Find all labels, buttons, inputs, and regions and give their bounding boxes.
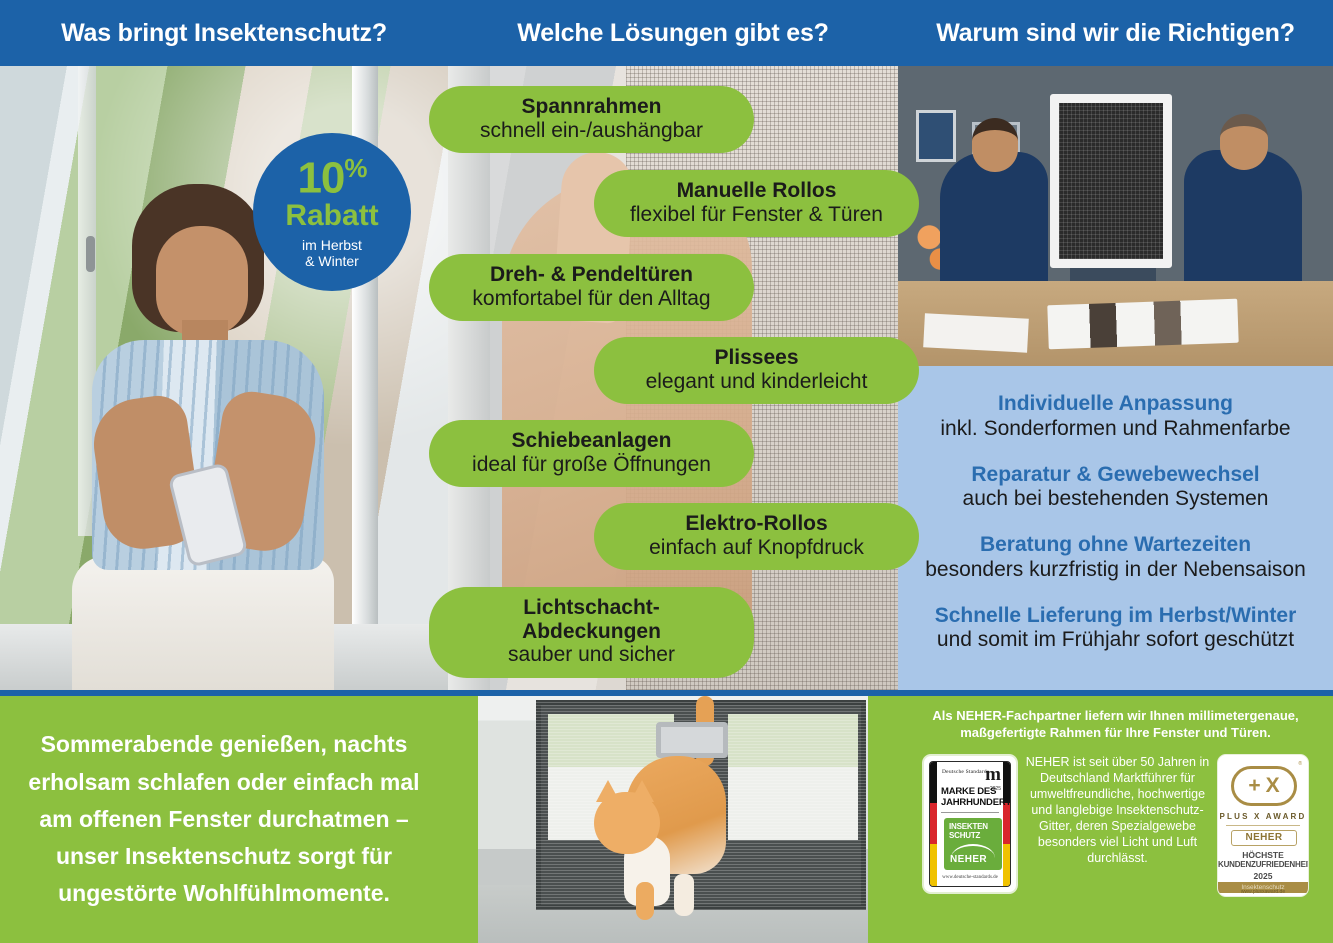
infographic-page: Was bringt Insektenschutz? Welche Lösung… bbox=[0, 0, 1333, 943]
team-member-right-body bbox=[1184, 150, 1302, 284]
solution-title: Schiebeanlagen bbox=[455, 429, 728, 453]
mdj-monogram-icon: m bbox=[985, 764, 1001, 786]
team-member-right-head bbox=[1220, 114, 1268, 170]
photo-cat-at-door bbox=[478, 696, 868, 943]
benefit-subtitle: besonders kurzfristig in der Nebensaison bbox=[912, 558, 1319, 583]
discount-word: Rabatt bbox=[285, 201, 378, 231]
photo-team-consultation bbox=[898, 66, 1333, 366]
discount-period: im Herbst & Winter bbox=[302, 237, 362, 269]
discount-percent-value: 10 bbox=[297, 153, 344, 202]
german-flag-stripe-left bbox=[930, 762, 937, 886]
pxa-brand: NEHER bbox=[1245, 832, 1282, 843]
woman-trousers bbox=[72, 556, 334, 690]
discount-percent-symbol: % bbox=[344, 153, 366, 183]
award-badge-marke-des-jahrhunderts: Deutsche Standards m 2025 MARKE DES JAHR… bbox=[922, 754, 1018, 894]
benefit-title: Reparatur & Gewebewechsel bbox=[912, 463, 1319, 488]
solution-title: Dreh- & Pendeltüren bbox=[455, 263, 728, 287]
plus-x-logo-icon: + X bbox=[1231, 766, 1297, 806]
mdj-publisher: Deutsche Standards bbox=[942, 769, 989, 775]
solution-pill-plissees[interactable]: Plissees elegant und kinderleicht bbox=[594, 337, 919, 404]
benefit-item-anpassung: Individuelle Anpassung inkl. Sonderforme… bbox=[912, 392, 1319, 442]
header-bar: Was bringt Insektenschutz? Welche Lösung… bbox=[0, 0, 1333, 66]
pxa-brand-box: NEHER bbox=[1231, 830, 1297, 846]
mdj-brand: NEHER bbox=[950, 854, 987, 865]
solution-pill-spannrahmen[interactable]: Spannrahmen schnell ein-/aushängbar bbox=[429, 86, 754, 153]
benefits-panel: Individuelle Anpassung inkl. Sonderforme… bbox=[898, 366, 1333, 690]
registered-trademark-icon: ® bbox=[1298, 761, 1302, 767]
mdj-category-block: INSEKTEN SCHUTZ NEHER bbox=[944, 818, 1002, 870]
insect-screen-sample-frame bbox=[1050, 94, 1172, 268]
quote-panel: Sommerabende genießen, nachts erholsam s… bbox=[0, 696, 448, 943]
team-member-left-head bbox=[972, 118, 1018, 172]
mdj-url: www.deutsche-standards.de bbox=[930, 875, 1010, 880]
neher-partner-panel: Als NEHER-Fachpartner liefern wir Ihnen … bbox=[898, 696, 1333, 943]
header-title-why-us: Warum sind wir die Richtigen? bbox=[898, 0, 1333, 66]
plus-symbol: + bbox=[1248, 775, 1260, 796]
pxa-line3: 2025 bbox=[1218, 871, 1308, 881]
mdj-divider bbox=[941, 812, 999, 813]
benefit-title: Schnelle Lieferung im Herbst/Winter bbox=[912, 604, 1319, 629]
solution-title: Spannrahmen bbox=[455, 95, 728, 119]
mdj-inner-frame: Deutsche Standards m 2025 MARKE DES JAHR… bbox=[929, 761, 1011, 887]
award-badge-plus-x-award: + X ® PLUS X AWARD NEHER HÖCHSTE KUNDENZ… bbox=[1217, 754, 1309, 897]
solution-pill-schiebeanlagen[interactable]: Schiebeanlagen ideal für große Öffnungen bbox=[429, 420, 754, 487]
pxa-award-title: PLUS X AWARD bbox=[1218, 812, 1308, 821]
neher-intro-text: Als NEHER-Fachpartner liefern wir Ihnen … bbox=[908, 708, 1323, 742]
solution-title: Elektro-Rollos bbox=[620, 512, 893, 536]
mdj-category-line1: INSEKTEN bbox=[949, 822, 988, 831]
solution-subtitle: elegant und kinderleicht bbox=[620, 370, 893, 394]
photo-cat-flap-container bbox=[448, 696, 898, 943]
discount-badge: 10% Rabatt im Herbst & Winter bbox=[253, 133, 411, 291]
table-documents bbox=[923, 313, 1029, 352]
quote-text: Sommerabende genießen, nachts erholsam s… bbox=[26, 726, 422, 912]
cat-head bbox=[594, 792, 660, 854]
mdj-title-line1: MARKE DES bbox=[941, 786, 996, 797]
solution-subtitle: ideal für große Öffnungen bbox=[455, 453, 728, 477]
neher-description-wrapper: NEHER ist seit über 50 Jahren in Deutsch… bbox=[1018, 754, 1217, 866]
solution-pill-manuelle-rollos[interactable]: Manuelle Rollos flexibel für Fenster & T… bbox=[594, 170, 919, 237]
solution-subtitle: flexibel für Fenster & Türen bbox=[620, 203, 893, 227]
benefit-item-lieferung: Schnelle Lieferung im Herbst/Winter und … bbox=[912, 604, 1319, 654]
benefit-subtitle: inkl. Sonderformen und Rahmenfarbe bbox=[912, 417, 1319, 442]
header-title-benefits: Was bringt Insektenschutz? bbox=[0, 0, 448, 66]
discount-period-line1: im Herbst bbox=[302, 237, 362, 253]
x-symbol: X bbox=[1266, 775, 1280, 796]
benefit-item-reparatur: Reparatur & Gewebewechsel auch bei beste… bbox=[912, 463, 1319, 513]
solution-subtitle: sauber und sicher bbox=[455, 643, 728, 667]
discount-percent: 10% bbox=[297, 155, 366, 201]
benefit-title: Individuelle Anpassung bbox=[912, 392, 1319, 417]
pxa-divider bbox=[1226, 825, 1300, 826]
fabric-sample-strip bbox=[1047, 299, 1238, 350]
solution-title: Manuelle Rollos bbox=[620, 179, 893, 203]
solution-subtitle: einfach auf Knopfdruck bbox=[620, 536, 893, 560]
solution-pill-lichtschacht-abdeckungen[interactable]: Lichtschacht-Abdeckungen sauber und sich… bbox=[429, 587, 754, 678]
solution-pill-elektro-rollos[interactable]: Elektro-Rollos einfach auf Knopfdruck bbox=[594, 503, 919, 570]
cat-flap-icon bbox=[656, 722, 728, 758]
mdj-category-line2: SCHUTZ bbox=[949, 831, 980, 840]
solution-pill-dreh-pendeltueren[interactable]: Dreh- & Pendeltüren komfortabel für den … bbox=[429, 254, 754, 321]
solution-title: Plissees bbox=[620, 346, 893, 370]
discount-period-line2: & Winter bbox=[305, 253, 359, 269]
solution-subtitle: schnell ein-/aushängbar bbox=[455, 119, 728, 143]
benefit-subtitle: auch bei bestehenden Systemen bbox=[912, 487, 1319, 512]
wall-picture-1 bbox=[916, 110, 956, 162]
awards-row: Deutsche Standards m 2025 MARKE DES JAHR… bbox=[908, 754, 1323, 897]
benefit-title: Beratung ohne Wartezeiten bbox=[912, 533, 1319, 558]
mdj-title-line2: JAHRHUNDERTS bbox=[941, 797, 1011, 808]
solution-subtitle: komfortabel für den Alltag bbox=[455, 287, 728, 311]
neher-description-text: NEHER ist seit über 50 Jahren in Deutsch… bbox=[1024, 754, 1211, 866]
pxa-url: www.plusxaward.de bbox=[1218, 889, 1308, 895]
cat-leg-rear bbox=[674, 874, 694, 916]
cat-leg-front bbox=[636, 882, 654, 920]
solution-title: Lichtschacht-Abdeckungen bbox=[455, 596, 728, 643]
pxa-line2: KUNDENZUFRIEDENHEIT bbox=[1218, 860, 1308, 869]
german-flag-stripe-right bbox=[1003, 762, 1010, 886]
header-title-solutions: Welche Lösungen gibt es? bbox=[448, 0, 898, 66]
benefit-item-beratung: Beratung ohne Wartezeiten besonders kurz… bbox=[912, 533, 1319, 583]
benefit-subtitle: und somit im Frühjahr sofort geschützt bbox=[912, 628, 1319, 653]
pxa-line1: HÖCHSTE bbox=[1218, 850, 1308, 860]
